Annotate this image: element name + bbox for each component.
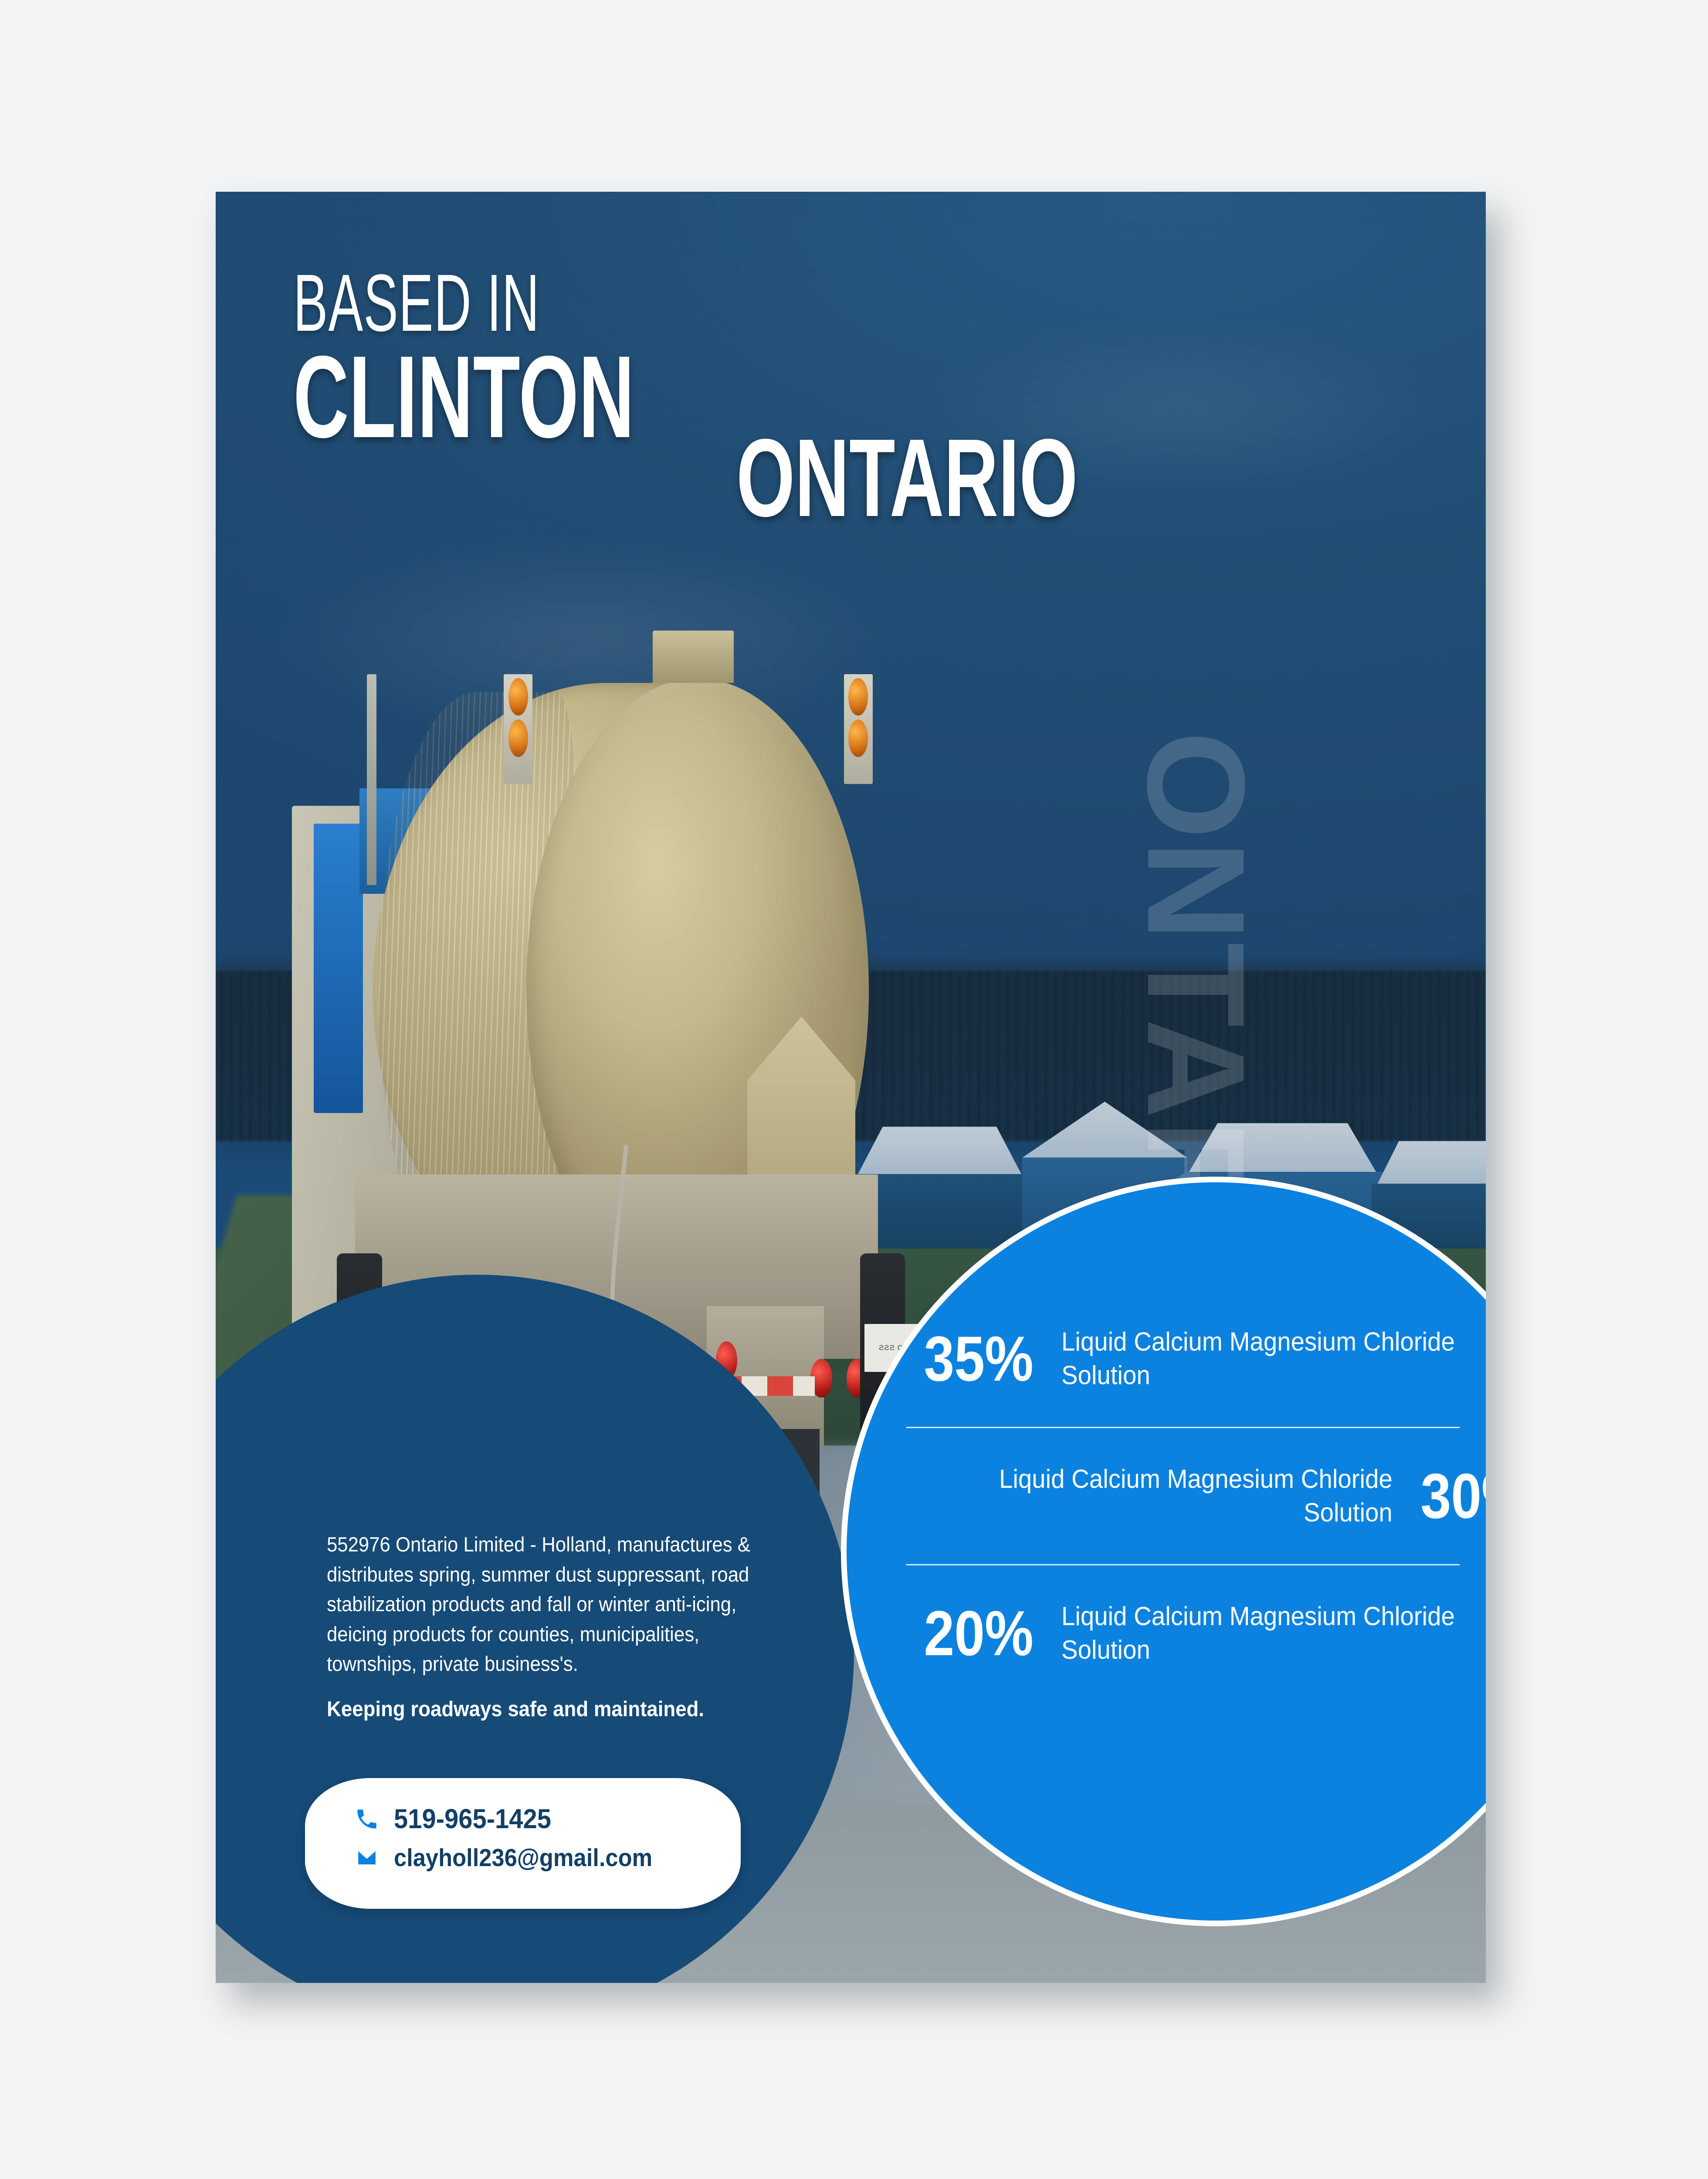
stat-divider-1 (906, 1427, 1460, 1428)
contact-card[interactable]: 519-965-1425 clayholl236@gmail.com (305, 1778, 741, 1909)
stat-value-20: 20% (924, 1602, 1033, 1665)
phone-icon (353, 1806, 381, 1833)
headline-line-ontario: ONTARIO (736, 427, 1078, 529)
marker-lamp-right (844, 674, 873, 784)
poster-shadow-wrapper: LOO SSS ONTARIO BASED IN CLINTON ONTARIO… (216, 192, 1486, 1983)
headline-line-clinton: CLINTON (293, 343, 811, 451)
exhaust-stack (367, 674, 377, 885)
flyer-poster: LOO SSS ONTARIO BASED IN CLINTON ONTARIO… (216, 192, 1486, 1983)
headline-line-based-in: BASED IN (293, 266, 795, 340)
company-tagline: Keeping roadways safe and maintained. (327, 1695, 791, 1724)
stat-divider-2 (906, 1564, 1460, 1565)
stat-label-35: Liquid Calcium Magnesium Chloride Soluti… (1061, 1325, 1486, 1392)
stat-row-35: 35% Liquid Calcium Magnesium Chloride So… (915, 1293, 1486, 1424)
stats-content: 35% Liquid Calcium Magnesium Chloride So… (841, 1177, 1486, 1926)
tank-manway (653, 631, 734, 683)
envelope-icon (353, 1844, 381, 1871)
stat-row-30: Liquid Calcium Magnesium Chloride Soluti… (915, 1431, 1486, 1561)
stat-label-20: Liquid Calcium Magnesium Chloride Soluti… (1061, 1600, 1486, 1667)
cab-blue-panel (314, 824, 363, 1113)
stat-value-30: 30% (1420, 1464, 1486, 1528)
contact-phone-row[interactable]: 519-965-1425 (353, 1803, 741, 1835)
marker-lamp-left (504, 674, 532, 784)
contact-email-row[interactable]: clayholl236@gmail.com (353, 1843, 741, 1872)
stat-row-20: 20% Liquid Calcium Magnesium Chloride So… (915, 1568, 1486, 1699)
stat-label-30: Liquid Calcium Magnesium Chloride Soluti… (944, 1463, 1393, 1530)
email-address: clayholl236@gmail.com (394, 1843, 652, 1872)
company-description: 552976 Ontario Limited - Holland, manufa… (327, 1530, 791, 1679)
phone-number: 519-965-1425 (394, 1803, 551, 1835)
stat-value-35: 35% (924, 1327, 1033, 1391)
